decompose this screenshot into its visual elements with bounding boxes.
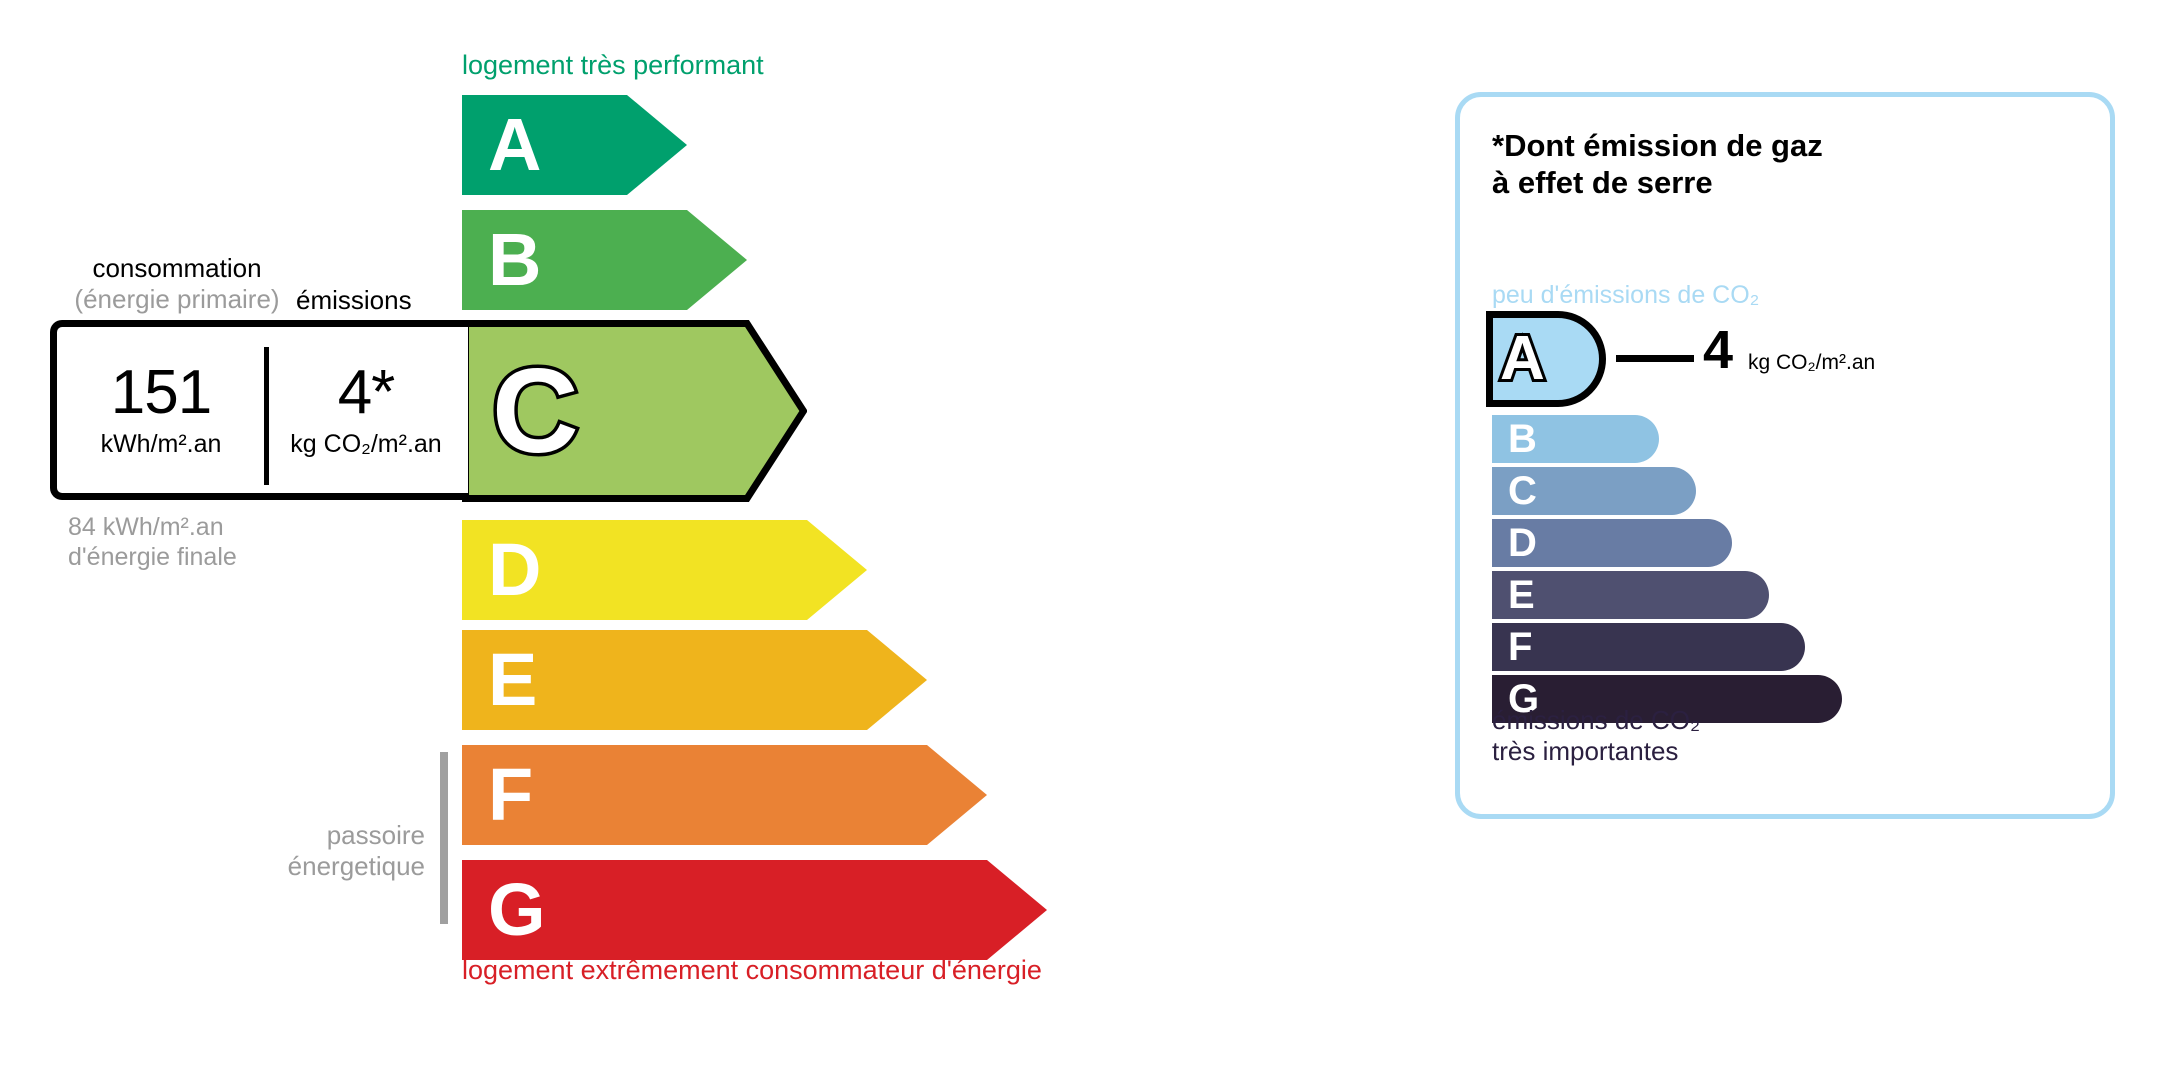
co2-class-bar-c [1492,467,1696,515]
co2-connector-line [1616,355,1694,362]
emissions-unit: kg CO₂/m².an [290,430,441,459]
co2-class-row-e[interactable]: E [1492,571,1769,619]
energy-value-box: 151 kWh/m².an 4* kg CO₂/m².an [50,320,468,500]
consumption-label-line1: consommation [62,253,292,284]
co2-emissions-panel: *Dont émission de gaz à effet de serre p… [1455,92,2115,819]
co2-class-row-c[interactable]: C [1492,467,1696,515]
energy-performance-panel: logement très performant ABCDEFG logemen… [0,0,1400,1079]
passoire-label-line2: énergetique [250,851,425,882]
co2-value-unit: kg CO₂/m².an [1748,351,1875,375]
energy-class-row-e[interactable]: E [462,630,927,730]
passoire-bracket [440,752,448,924]
co2-top-caption: peu d'émissions de CO₂ [1492,281,1759,310]
energy-class-row-d[interactable]: D [462,520,867,620]
co2-class-row-f[interactable]: F [1492,623,1805,671]
energy-class-arrow-g [462,860,1047,960]
energy-class-arrow-a [462,95,687,195]
consumption-label: consommation (énergie primaire) [62,253,292,314]
energy-class-row-a[interactable]: A [462,95,687,195]
final-energy-line1: 84 kWh/m².an [68,512,237,542]
co2-class-a-badge: A [1486,311,1606,407]
final-energy-note: 84 kWh/m².an d'énergie finale [68,512,237,572]
co2-panel-title: *Dont émission de gaz à effet de serre [1492,127,1823,201]
co2-class-bar-f [1492,623,1805,671]
consumption-value-cell: 151 kWh/m².an [57,327,265,493]
co2-class-row-d[interactable]: D [1492,519,1732,567]
passoire-label: passoire énergetique [250,820,425,881]
consumption-unit: kWh/m².an [101,430,222,459]
consumption-value: 151 [111,362,211,424]
energy-class-row-c[interactable]: C [462,320,807,502]
energy-class-row-b[interactable]: B [462,210,747,310]
consumption-label-line2: (énergie primaire) [62,284,292,315]
energy-top-caption: logement très performant [462,50,764,81]
co2-class-bar-b [1492,415,1659,463]
energy-class-arrow-d [462,520,867,620]
energy-class-arrow-f [462,745,987,845]
energy-class-arrow-c [462,320,807,502]
co2-value: 4 [1703,323,1733,377]
energy-class-arrow-e [462,630,927,730]
co2-class-bar-d [1492,519,1732,567]
co2-class-bar-e [1492,571,1769,619]
co2-bottom-caption: émissions de CO₂ très importantes [1492,705,1700,767]
energy-class-arrow-b [462,210,747,310]
energy-bottom-caption: logement extrêmement consommateur d'éner… [462,955,1042,986]
emissions-value-cell: 4* kg CO₂/m².an [265,327,467,493]
passoire-label-line1: passoire [250,820,425,851]
energy-class-row-f[interactable]: F [462,745,987,845]
final-energy-line2: d'énergie finale [68,542,237,572]
emissions-label: émissions [296,285,412,316]
energy-class-row-g[interactable]: G [462,860,1047,960]
co2-class-row-b[interactable]: B [1492,415,1659,463]
emissions-value: 4* [338,362,395,424]
co2-class-a-shape [1486,311,1606,407]
